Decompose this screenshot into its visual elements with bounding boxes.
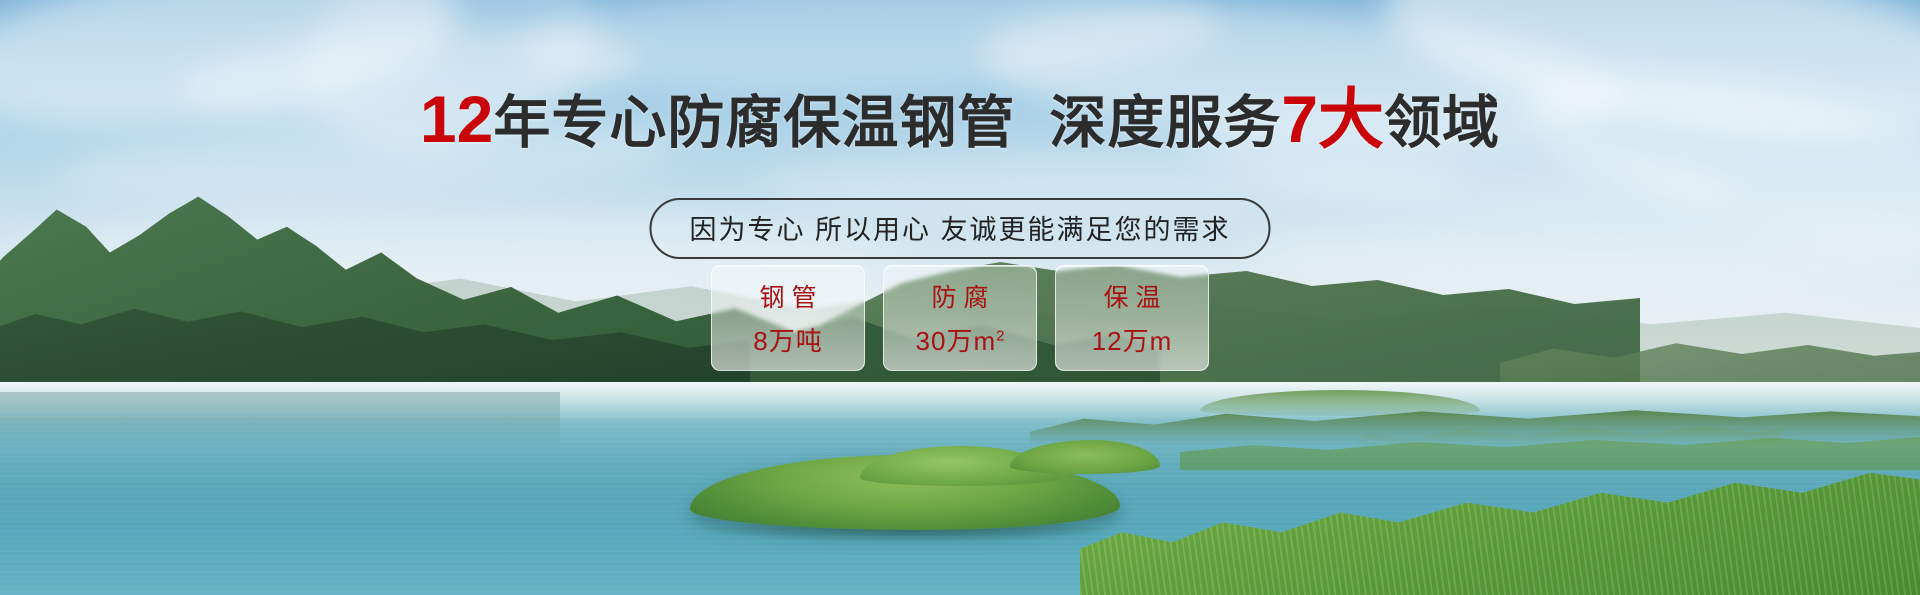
stat-card-label: 钢管	[752, 278, 823, 314]
promo-banner: 12年专心防腐保温钢管深度服务7大领域 因为专心 所以用心 友诚更能满足您的需求…	[0, 0, 1920, 595]
stat-card-value: 12万m	[1092, 321, 1173, 358]
stat-value-text: 30万m	[916, 326, 997, 356]
stat-card-steel-pipe[interactable]: 钢管 8万吨	[711, 265, 865, 371]
stat-card-label: 保温	[1096, 278, 1167, 314]
headline-service-text: 深度服务	[1049, 91, 1281, 155]
stat-card-label: 防腐	[924, 278, 995, 314]
stat-card-value: 8万吨	[753, 321, 822, 358]
headline-main-text: 年专心防腐保温钢管	[493, 91, 1015, 155]
headline-years-number: 12	[420, 82, 493, 156]
stat-value-text: 12万m	[1092, 326, 1173, 356]
stat-value-superscript: 2	[996, 327, 1004, 344]
stats-card-group: 钢管 8万吨 防腐 30万m2 保温 12万m	[711, 265, 1209, 371]
stat-card-insulation[interactable]: 保温 12万m	[1055, 265, 1209, 371]
headline: 12年专心防腐保温钢管深度服务7大领域	[0, 84, 1920, 155]
headline-fields-number: 7大	[1281, 82, 1384, 156]
stat-card-anticorrosion[interactable]: 防腐 30万m2	[883, 265, 1037, 371]
stat-card-value: 30万m2	[916, 321, 1005, 358]
subtitle-pill: 因为专心 所以用心 友诚更能满足您的需求	[649, 198, 1270, 259]
headline-fields-text: 领域	[1384, 91, 1500, 155]
stat-value-text: 8万吨	[753, 326, 822, 356]
banner-content: 12年专心防腐保温钢管深度服务7大领域 因为专心 所以用心 友诚更能满足您的需求…	[0, 0, 1920, 595]
